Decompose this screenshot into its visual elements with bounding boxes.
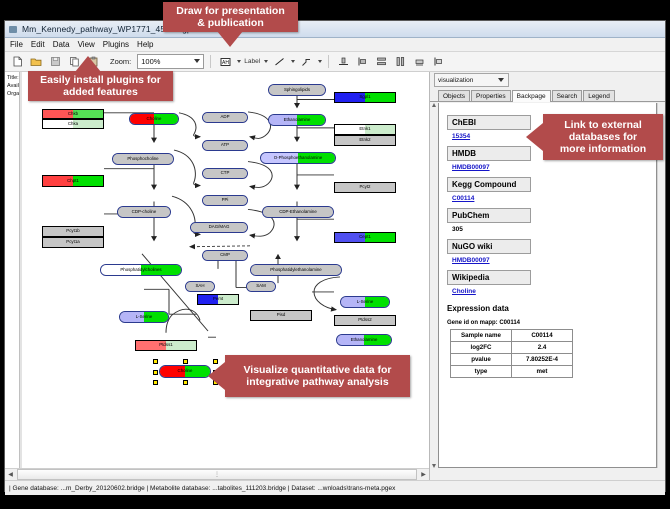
chevron-down-icon	[498, 78, 504, 82]
line-icon[interactable]	[271, 54, 287, 70]
node-label: Ethanolamine	[284, 118, 311, 122]
node-label: Chpt1	[67, 179, 79, 183]
gene-node-chkb[interactable]: Chkb	[42, 109, 104, 119]
node-label: Pisd	[277, 313, 286, 317]
zoom-combobox[interactable]: 100%	[137, 54, 204, 69]
node-label: L-Serine	[136, 315, 153, 319]
db-header-wikipedia: Wikipedia	[447, 270, 531, 285]
db-link-wikipedia[interactable]: Choline	[452, 288, 648, 295]
node-label: Ethanolamine	[351, 338, 378, 342]
open-icon[interactable]	[28, 54, 44, 70]
menu-item-file[interactable]: File	[10, 40, 23, 49]
node-label: PPi	[222, 198, 229, 202]
metabolite-node-cdp-ethanolamine[interactable]: CDP-Ethanolamine	[262, 206, 334, 218]
zoom-value: 100%	[141, 57, 160, 66]
gene-node-sgpl1[interactable]: Sgpl1	[334, 92, 396, 103]
metabolite-node-phosphatidylcholines[interactable]: Phosphatidylcholines	[100, 264, 182, 276]
node-label: Sgpl1	[359, 95, 370, 99]
title-bar: Mm_Kennedy_pathway_WP1771_45176.gpml	[5, 21, 665, 38]
metabolite-node-choline[interactable]: Choline	[129, 113, 179, 125]
metabolite-node-sah[interactable]: SAH	[185, 281, 215, 292]
callout-plugins-line2: added features	[63, 86, 138, 98]
node-label: O-Phosphoethanolamine	[274, 156, 323, 160]
expr-key-pvalue: pvalue	[451, 354, 512, 366]
callout-link-arrow-icon	[526, 123, 543, 151]
db-header-nugowiki: NuGO wiki	[447, 239, 531, 254]
align-left-icon[interactable]	[354, 54, 370, 70]
node-label: Cept1	[359, 235, 371, 239]
node-label: DAG/MAG	[209, 225, 230, 229]
same-width-icon[interactable]	[392, 54, 408, 70]
align-top-icon[interactable]	[335, 54, 351, 70]
save-icon[interactable]	[47, 54, 63, 70]
node-label: SAH	[195, 284, 204, 288]
gene-node-ptdss1[interactable]: Ptdss1	[135, 340, 197, 351]
connector-dropdown-icon[interactable]	[318, 60, 322, 63]
callout-link: Link to external databases for more info…	[543, 114, 663, 160]
metabolite-node-atp[interactable]: ATP	[202, 140, 248, 151]
db-link-kegg[interactable]: C00114	[452, 195, 648, 202]
expr-key-log2fc: log2FC	[451, 342, 512, 354]
node-label: Ptdss2	[358, 318, 371, 322]
gene-node-pcyt2[interactable]: Pcyt2	[334, 182, 396, 193]
expr-key-sample-name: Sample name	[451, 330, 512, 342]
expr-val-type: met	[512, 366, 573, 378]
same-height-icon[interactable]	[411, 54, 427, 70]
scroll-left-icon[interactable]: ◀	[5, 469, 16, 480]
metabolite-node-ppi[interactable]: PPi	[202, 195, 248, 206]
tab-objects[interactable]: Objects	[438, 90, 470, 101]
toolbar-separator	[210, 55, 211, 68]
tab-legend[interactable]: Legend	[583, 90, 615, 101]
expr-val-sample-name: C00114	[512, 330, 573, 342]
node-label: Ptdss1	[159, 343, 172, 347]
metabolite-node-phosphatidylethanolamine[interactable]: Phosphatidylethanolamine	[250, 264, 342, 276]
app-icon	[9, 25, 18, 34]
node-label: CDP-choline	[132, 210, 157, 214]
selection-handles[interactable]	[155, 361, 215, 382]
expr-val-log2fc: 2.4	[512, 342, 573, 354]
tab-backpage[interactable]: Backpage	[512, 90, 551, 102]
toolbar: Zoom: 100% AH Label	[5, 52, 665, 72]
tab-properties[interactable]: Properties	[471, 90, 511, 101]
metabolite-node-cdp-choline[interactable]: CDP-choline	[117, 206, 171, 218]
node-label: CMP	[220, 253, 230, 257]
metabolite-node-o-phosphoethanolamine[interactable]: O-Phosphoethanolamine	[260, 152, 336, 164]
line-dropdown-icon[interactable]	[291, 60, 295, 63]
resize-handle[interactable]	[183, 380, 188, 385]
metabolite-node-sphingolipids[interactable]: Sphingolipids	[268, 84, 326, 96]
gene-node-pemt[interactable]: Pemt	[197, 294, 239, 305]
metabolite-node-phosphocholine[interactable]: Phosphocholine	[112, 153, 174, 165]
status-bar: | Gene database: ...m_Derby_20120602.bri…	[5, 480, 665, 495]
node-label: ATP	[221, 143, 229, 147]
chevron-down-icon	[194, 59, 200, 63]
node-label: Pemt	[213, 297, 223, 301]
status-bar-text: | Gene database: ...m_Derby_20120602.bri…	[9, 485, 395, 492]
node-label: ADP	[220, 115, 229, 119]
node-label: Pcyt1a	[66, 240, 79, 244]
callout-draw: Draw for presentation & publication	[163, 2, 298, 32]
db-header-pubchem: PubChem	[447, 208, 531, 223]
metabolite-node-ctp[interactable]: CTP	[202, 168, 248, 179]
node-label: Etnk2	[359, 138, 370, 142]
expr-key-type: type	[451, 366, 512, 378]
menu-item-help[interactable]: Help	[137, 40, 153, 49]
label-dropdown-icon[interactable]	[264, 60, 268, 63]
callout-plugins-arrow-icon	[75, 56, 101, 72]
metabolite-node-ethanolamine[interactable]: Ethanolamine	[268, 114, 326, 126]
tab-search[interactable]: Search	[552, 90, 583, 101]
node-label: Phosphatidylcholines	[120, 268, 161, 272]
gene-id-on-mapp: Gene id on mapp: C00114	[447, 320, 648, 326]
node-label: Sphingolipids	[284, 88, 310, 92]
expression-table-body: Sample name C00114 log2FC 2.4 pvalue 7.8…	[451, 330, 573, 378]
hscroll-thumb[interactable]: ⋮	[17, 469, 417, 480]
gene-node-pisd[interactable]: Pisd	[250, 310, 312, 321]
resize-handle[interactable]	[183, 359, 188, 364]
db-value-pubchem: 305	[452, 226, 648, 233]
node-fill-right	[281, 311, 311, 320]
resize-handle[interactable]	[153, 380, 158, 385]
callout-link-line2: databases for	[569, 131, 637, 143]
metabolite-node-cmp[interactable]: CMP	[202, 250, 248, 261]
db-header-hmdb: HMDB	[447, 146, 531, 161]
metabolite-node-adp[interactable]: ADP	[202, 112, 248, 123]
db-header-kegg: Kegg Compound	[447, 177, 531, 192]
callout-draw-line1: Draw for presentation	[176, 5, 285, 17]
gene-node-pcyt1b[interactable]: Pcyt1b	[42, 226, 104, 237]
node-label: Pcyt2	[360, 185, 371, 189]
node-label: Choline	[147, 117, 162, 121]
node-label: SAM	[256, 284, 266, 288]
callout-visualize-arrow-icon	[208, 362, 225, 390]
menu-item-plugins[interactable]: Plugins	[103, 40, 129, 49]
node-label: Chka	[68, 122, 78, 126]
expr-val-pvalue: 7.80252E-4	[512, 354, 573, 366]
callout-plugins-line1: Easily install plugins for	[40, 74, 161, 86]
table-row: log2FC 2.4	[451, 342, 573, 354]
resize-handle[interactable]	[153, 359, 158, 364]
zoom-label: Zoom:	[110, 57, 131, 66]
canvas-hscrollbar[interactable]: ◀ ⋮ ▶	[5, 468, 429, 480]
callout-link-line1: Link to external	[564, 119, 642, 131]
pathway-canvas-area[interactable]: Title: Availa Organ	[5, 72, 430, 480]
metabolite-node-dag-mag[interactable]: DAG/MAG	[190, 222, 248, 233]
node-label: Phosphocholine	[127, 157, 158, 161]
visualization-row: visualization	[430, 72, 665, 88]
side-panel-left-scrollbar[interactable]	[431, 103, 437, 468]
callout-visualize-line2: integrative pathway analysis	[246, 376, 388, 388]
callout-draw-line2: & publication	[197, 17, 264, 29]
node-label: Phosphatidylethanolamine	[270, 268, 322, 272]
expression-data-title: Expression data	[447, 304, 648, 313]
callout-visualize: Visualize quantitative data for integrat…	[225, 355, 410, 397]
new-icon[interactable]	[9, 54, 25, 70]
datanode-dropdown-icon[interactable]	[237, 60, 241, 63]
callout-draw-arrow-icon	[217, 31, 243, 47]
resize-handle[interactable]	[153, 370, 158, 375]
gene-node-chpt1[interactable]: Chpt1	[42, 175, 104, 187]
toolbar-separator-2	[328, 55, 329, 68]
menu-item-view[interactable]: View	[78, 40, 95, 49]
callout-link-line3: more information	[560, 143, 646, 155]
db-link-nugowiki[interactable]: HMDB00097	[452, 257, 648, 264]
metabolite-node-l-serine[interactable]: L-Serine	[340, 296, 390, 308]
metabolite-node-l-serine[interactable]: L-Serine	[119, 311, 169, 323]
connector-icon[interactable]	[298, 54, 314, 70]
metabolite-node-ethanolamine[interactable]: Ethanolamine	[336, 334, 392, 346]
scroll-right-icon[interactable]: ▶	[418, 469, 429, 480]
menu-bar: File Edit Data View Plugins Help	[5, 38, 665, 52]
visualization-select[interactable]: visualization	[434, 73, 509, 87]
node-label: Chkb	[68, 112, 78, 116]
gene-node-pcyt1a[interactable]: Pcyt1a	[42, 237, 104, 248]
node-label: CDP-Ethanolamine	[279, 210, 317, 214]
menu-item-data[interactable]: Data	[53, 40, 70, 49]
gene-node-ptdss2[interactable]: Ptdss2	[334, 315, 396, 326]
label-tool-label[interactable]: Label	[244, 58, 260, 65]
callout-plugins: Easily install plugins for added feature…	[28, 71, 173, 101]
table-row: pvalue 7.80252E-4	[451, 354, 573, 366]
menu-item-edit[interactable]: Edit	[31, 40, 45, 49]
table-row: type met	[451, 366, 573, 378]
bring-front-icon[interactable]	[430, 54, 446, 70]
gene-node-chka[interactable]: Chka	[42, 119, 104, 129]
table-row: Sample name C00114	[451, 330, 573, 342]
svg-text:AH: AH	[222, 60, 229, 66]
align-stack-icon[interactable]	[373, 54, 389, 70]
db-header-chebi: ChEBI	[447, 115, 531, 130]
node-label: Pcyt1b	[66, 229, 79, 233]
pathway-diagram[interactable]: SphingolipidsEthanolamineO-Phosphoethano…	[22, 72, 429, 480]
gene-node-etnk2[interactable]: Etnk2	[334, 135, 396, 146]
expression-table: Sample name C00114 log2FC 2.4 pvalue 7.8…	[450, 329, 573, 378]
db-link-hmdb[interactable]: HMDB00097	[452, 164, 648, 171]
datanode-icon[interactable]: AH	[217, 54, 233, 70]
visualization-value: visualization	[438, 77, 473, 84]
callout-visualize-line1: Visualize quantitative data for	[243, 364, 391, 376]
metabolite-node-sam[interactable]: SAM	[246, 281, 276, 292]
gene-node-etnk1[interactable]: Etnk1	[334, 124, 396, 135]
side-panel-tabs: Objects Properties Backpage Search Legen…	[430, 88, 665, 102]
gene-node-cept1[interactable]: Cept1	[334, 232, 396, 243]
node-label: Etnk1	[359, 127, 370, 131]
node-label: CTP	[221, 171, 230, 175]
node-label: L-Serine	[357, 300, 374, 304]
